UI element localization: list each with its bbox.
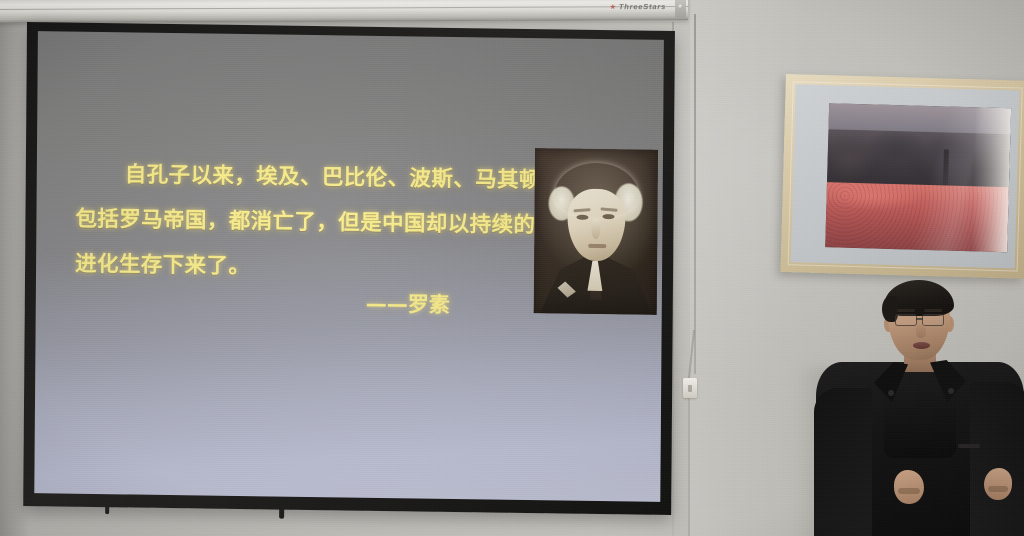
cord-wall-clip-slot bbox=[688, 385, 692, 392]
roller-brand-badge: ThreeStars bbox=[610, 2, 666, 11]
presenter-jacket-right-sleeve bbox=[970, 382, 1024, 536]
quote-line-2: 包括罗马帝国，都消亡了，但是中国却以持续的 bbox=[50, 196, 550, 248]
portrait-edge-vignette bbox=[534, 148, 658, 315]
presenter-jacket-button-right bbox=[948, 388, 954, 394]
star-icon bbox=[610, 4, 616, 10]
eyeglasses-right-lens bbox=[922, 314, 944, 326]
screen-bottom-hook-secondary bbox=[105, 506, 109, 514]
roller-brand-label: ThreeStars bbox=[619, 2, 666, 11]
presentation-slide: 自孔子以来，埃及、巴比伦、波斯、马其顿， 包括罗马帝国，都消亡了，但是中国却以持… bbox=[34, 31, 664, 502]
roller-end-cap bbox=[675, 0, 686, 18]
presenter-fingers-right bbox=[988, 486, 1008, 492]
standing-presenter bbox=[812, 272, 1024, 536]
presenter-jacket-button-left bbox=[888, 390, 894, 396]
picture-frame-inner-lip bbox=[788, 81, 1023, 271]
screen-projection-surface[interactable]: 自孔子以来，埃及、巴比伦、波斯、马其顿， 包括罗马帝国，都消亡了，但是中国却以持… bbox=[34, 31, 664, 502]
slide-quote-text: 自孔子以来，埃及、巴比伦、波斯、马其顿， 包括罗马帝国，都消亡了，但是中国却以持… bbox=[50, 151, 551, 293]
presenter-jacket-pocket bbox=[958, 444, 980, 448]
presenter-hand-right bbox=[984, 468, 1012, 500]
projector-screen-roller-housing[interactable]: ThreeStars bbox=[0, 0, 688, 23]
room-scene: ThreeStars 自孔子以来，埃及、巴比伦、波斯、马其顿， 包括罗马帝国，都… bbox=[0, 0, 1024, 536]
quote-line-1: 自孔子以来，埃及、巴比伦、波斯、马其顿， bbox=[51, 151, 551, 203]
hanging-cord bbox=[694, 14, 696, 374]
quote-line-3: 进化生存下来了。 bbox=[50, 241, 550, 293]
slide-attribution: ——罗素 bbox=[366, 288, 450, 319]
roller-cap-screw bbox=[678, 4, 683, 9]
roller-groove bbox=[0, 6, 688, 10]
presenter-fingers-left bbox=[898, 488, 920, 494]
eyeglasses-bridge bbox=[916, 318, 923, 320]
framed-landscape-photograph bbox=[780, 74, 1024, 279]
projection-screen[interactable]: 自孔子以来，埃及、巴比伦、波斯、马其顿， 包括罗马帝国，都消亡了，但是中国却以持… bbox=[23, 22, 675, 515]
presenter-nose bbox=[916, 324, 926, 338]
presenter-jacket-left-sleeve bbox=[814, 388, 872, 536]
screen-bottom-hook bbox=[279, 509, 284, 519]
presenter-eyebrow-right bbox=[924, 309, 942, 312]
eyeglasses-left-lens bbox=[895, 314, 917, 326]
presenter-hand-left bbox=[894, 470, 924, 504]
presenter-mouth bbox=[913, 342, 930, 349]
hanging-cord-tail bbox=[688, 398, 690, 536]
portrait-of-bertrand-russell bbox=[534, 148, 658, 315]
presenter-eyebrow-left bbox=[897, 309, 915, 312]
